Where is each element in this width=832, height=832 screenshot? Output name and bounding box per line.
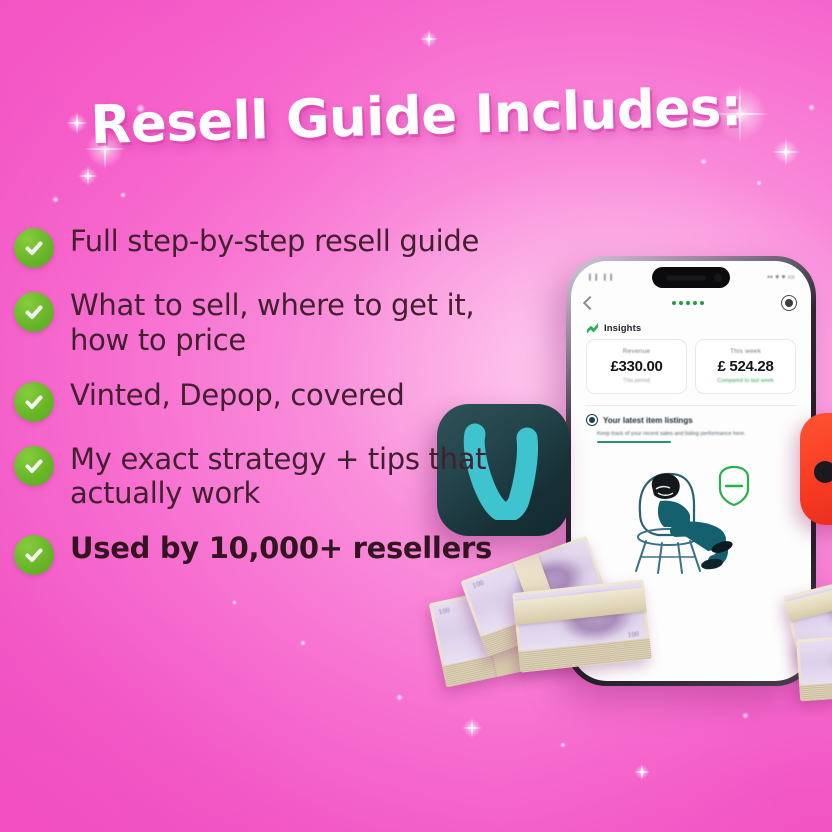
check-circle-icon (14, 228, 54, 268)
phone-headline-title: Your latest item listings (603, 416, 693, 425)
phone-status-bar: ❙❙ ❙❙ ▪▪ ▾ ▾ ▭ (571, 261, 811, 289)
stat-card-earned[interactable]: Revenue £330.00 This period (586, 339, 687, 394)
check-circle-icon (14, 292, 54, 332)
stat-card-this-week[interactable]: This week £ 524.28 Compared to last week (695, 339, 796, 394)
insights-label: Insights (604, 323, 641, 334)
stat-cards: Revenue £330.00 This period This week £ … (571, 339, 811, 394)
progress-dot (672, 301, 676, 305)
bullet-full-guide: Full step-by-step resell guide (14, 224, 534, 268)
stat-card-sub: This period (591, 378, 682, 384)
check-circle-icon (14, 535, 54, 575)
banknote-denomination: 100 (627, 631, 639, 639)
bullet-social-proof: Used by 10,000+ resellers (14, 531, 534, 575)
red-app-icon-partial (800, 413, 832, 525)
status-bar-left: ❙❙ ❙❙ (587, 273, 614, 281)
check-circle-icon (14, 382, 54, 422)
progress-dots (672, 301, 704, 305)
stat-card-label: Revenue (591, 348, 682, 355)
status-bar-right-text: ▪▪ ▾ ▾ ▭ (767, 273, 795, 281)
chevron-left-icon[interactable] (583, 296, 597, 310)
dynamic-island (652, 267, 730, 288)
bullet-label: Full step-by-step resell guide (70, 224, 479, 259)
info-circle-icon (586, 414, 598, 426)
status-bar-left-text: ❙❙ ❙❙ (587, 273, 614, 281)
leaf-icon (587, 323, 598, 334)
stat-card-value: £ 524.28 (700, 358, 791, 375)
progress-dot (679, 301, 683, 305)
bullet-label: Used by 10,000+ resellers (70, 531, 492, 566)
profile-avatar-icon[interactable] (781, 295, 797, 311)
stat-card-label: This week (700, 348, 791, 355)
bullet-label: My exact strategy + tips that actually w… (70, 442, 534, 512)
cash-bundle (796, 633, 832, 702)
poster-canvas: Resell Guide Includes: ❙❙ ❙❙ ▪▪ ▾ ▾ ▭ (0, 0, 832, 832)
stat-card-value: £330.00 (591, 358, 682, 375)
phone-headline-row: Your latest item listings (571, 406, 811, 426)
camera-icon (714, 274, 722, 282)
check-circle-icon (14, 446, 54, 486)
bullet-what-to-sell: What to sell, where to get it, how to pr… (14, 288, 534, 358)
progress-dot (686, 301, 690, 305)
progress-dot (700, 301, 704, 305)
bullet-label: Vinted, Depop, covered (70, 378, 405, 413)
bullet-strategy: My exact strategy + tips that actually w… (14, 442, 534, 512)
feature-bullet-list: Full step-by-step resell guide What to s… (14, 224, 534, 595)
stat-card-sub: Compared to last week (700, 378, 791, 384)
speaker-icon (666, 275, 706, 280)
bullet-platforms: Vinted, Depop, covered (14, 378, 534, 422)
headline-underline (597, 441, 671, 443)
status-bar-right: ▪▪ ▾ ▾ ▭ (767, 273, 795, 281)
banknote-face (799, 636, 832, 685)
insights-header: Insights (571, 315, 811, 339)
phone-nav-row (571, 289, 811, 315)
progress-dot (693, 301, 697, 305)
phone-headline-subtitle: Keep track of your recent sales and list… (571, 426, 811, 437)
bullet-label: What to sell, where to get it, how to pr… (70, 288, 534, 358)
